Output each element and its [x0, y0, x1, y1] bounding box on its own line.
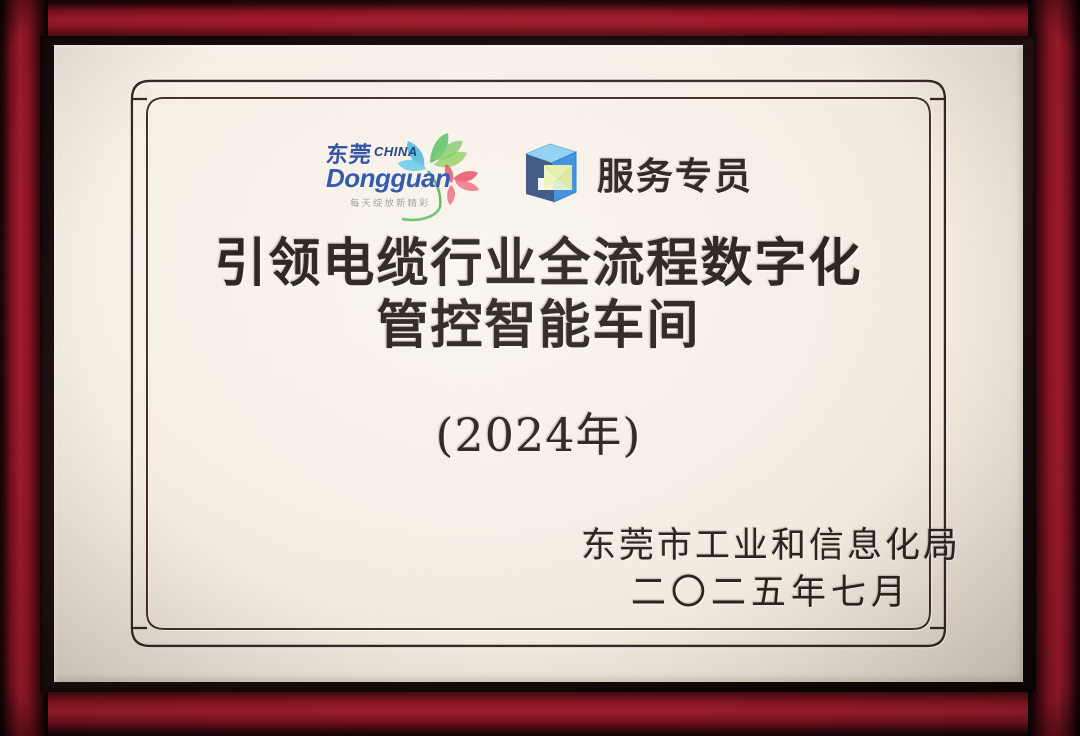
- dongguan-wordmark: 东莞CHINA Dongguan: [326, 144, 452, 191]
- issue-date: 二〇二五年七月: [581, 570, 961, 617]
- award-plaque: 东莞CHINA Dongguan 每天绽放新精彩: [0, 0, 1080, 736]
- plaque-content: 东莞CHINA Dongguan 每天绽放新精彩: [54, 45, 1023, 682]
- award-year: (2024年): [54, 399, 1023, 465]
- page-title: 引领电缆行业全流程数字化 管控智能车间: [54, 233, 1023, 358]
- dongguan-china-text: CHINA: [374, 144, 418, 159]
- dongguan-en-text: Dongguan: [326, 165, 452, 191]
- dongguan-cn-text: 东莞: [325, 144, 373, 166]
- dongguan-city-logo: 东莞CHINA Dongguan 每天绽放新精彩: [324, 123, 496, 223]
- title-line-2: 管控智能车间: [54, 295, 1023, 357]
- service-specialist-label: 服务专员: [597, 146, 753, 200]
- logo-row: 东莞CHINA Dongguan 每天绽放新精彩: [54, 123, 1023, 223]
- issuing-organization: 东莞市工业和信息化局: [581, 523, 961, 570]
- service-specialist-logo: 服务专员: [514, 138, 753, 208]
- dongguan-slogan: 每天绽放新精彩: [350, 195, 431, 208]
- cube-icon: [514, 138, 584, 208]
- title-line-1: 引领电缆行业全流程数字化: [214, 234, 862, 294]
- signature-block: 东莞市工业和信息化局 二〇二五年七月: [581, 523, 961, 618]
- plaque-board: 东莞CHINA Dongguan 每天绽放新精彩: [54, 45, 1023, 682]
